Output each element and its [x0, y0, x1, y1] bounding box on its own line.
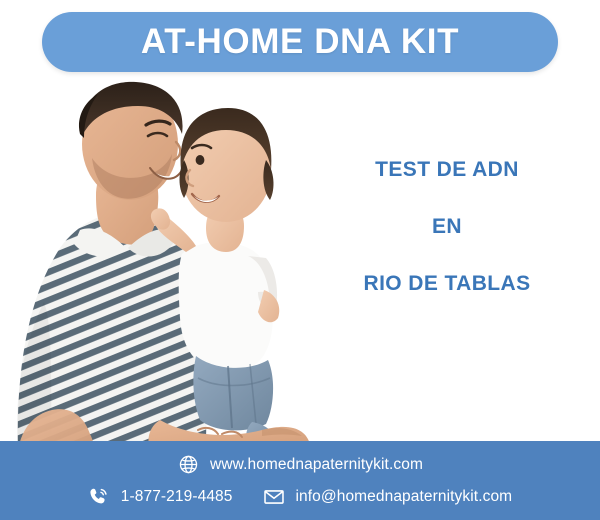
headline-connector: EN [312, 215, 582, 239]
page-title: AT-HOME DNA KIT [141, 22, 459, 62]
footer-row-contact: 1-877-219-4485 info@homednapaternitykit.… [0, 481, 600, 512]
footer-email[interactable]: info@homednapaternitykit.com [263, 486, 513, 508]
family-photo-illustration [0, 78, 310, 450]
footer-bar: www.homednapaternitykit.com 1-877-219-44… [0, 441, 600, 520]
footer-email-label: info@homednapaternitykit.com [296, 488, 513, 506]
headline-service: TEST DE ADN [312, 158, 582, 182]
envelope-icon [263, 486, 285, 508]
footer-phone[interactable]: 1-877-219-4485 [88, 486, 233, 508]
footer-website-label: www.homednapaternitykit.com [210, 456, 423, 474]
headline-location: RIO DE TABLAS [312, 272, 582, 296]
dna-kit-promo-card: AT-HOME DNA KIT [0, 0, 600, 520]
phone-icon [88, 486, 110, 508]
header-banner: AT-HOME DNA KIT [42, 12, 558, 72]
footer-row-website: www.homednapaternitykit.com [0, 449, 600, 480]
footer-website[interactable]: www.homednapaternitykit.com [177, 454, 423, 476]
headline-block: TEST DE ADN EN RIO DE TABLAS [312, 158, 582, 296]
footer-phone-label: 1-877-219-4485 [121, 488, 233, 506]
family-photo [0, 78, 310, 450]
globe-icon [177, 454, 199, 476]
